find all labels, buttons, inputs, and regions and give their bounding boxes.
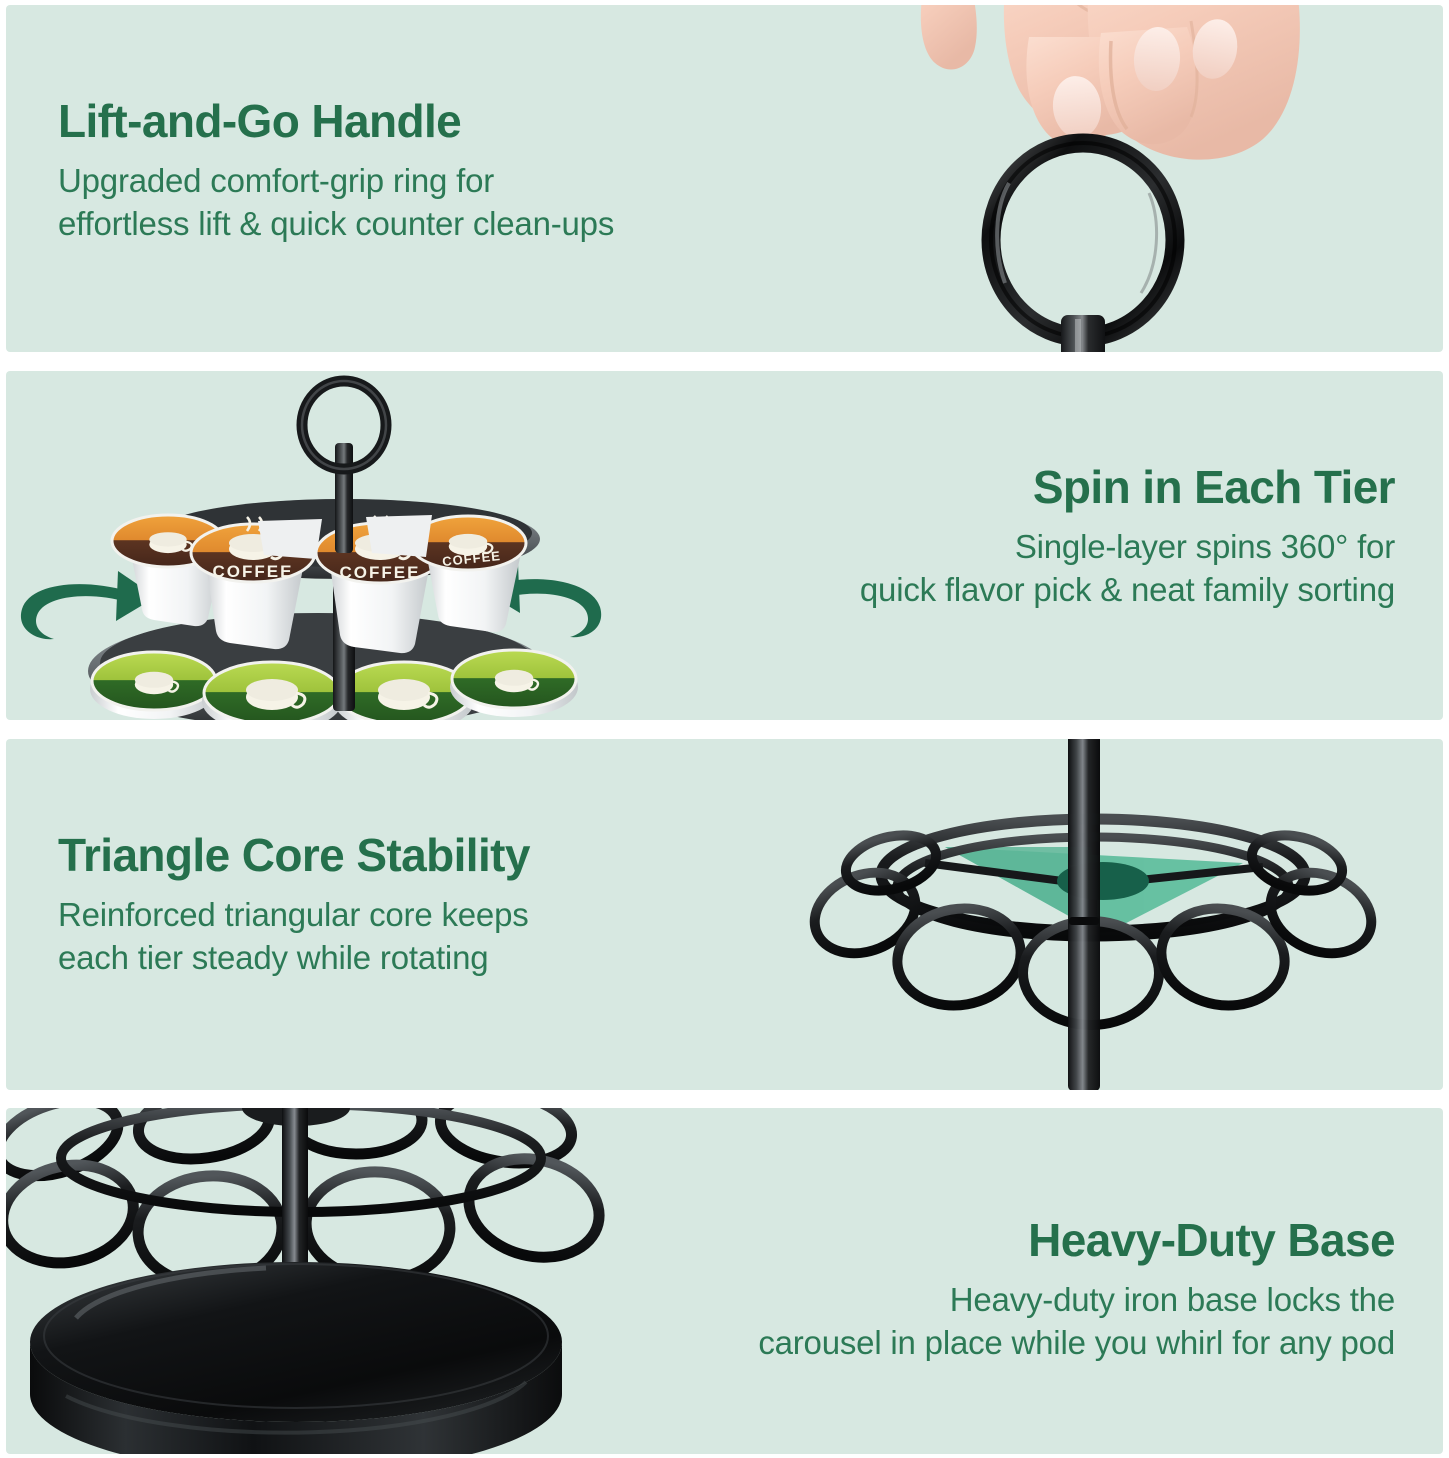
rotation-arrow-left-icon xyxy=(21,571,156,639)
panel-4-headline: Heavy-Duty Base xyxy=(758,1216,1395,1265)
center-post-graphic xyxy=(335,443,353,553)
panel-2-body-text: Single-layer spins 360° for quick flavor… xyxy=(860,526,1395,612)
green-pod xyxy=(90,652,218,719)
ring-handle-graphic xyxy=(991,143,1175,337)
carousel-tier-triangle-core-image xyxy=(773,739,1413,1090)
round-iron-base-disc xyxy=(30,1262,562,1454)
panel-3-body-text: Reinforced triangular core keeps each ti… xyxy=(58,894,530,980)
human-hand-graphic xyxy=(921,5,1300,160)
panel-1-body-text: Upgraded comfort-grip ring for effortles… xyxy=(58,160,614,246)
panel-2-headline: Spin in Each Tier xyxy=(860,463,1395,512)
feature-panel-spin-in-each-tier: Spin in Each Tier Single-layer spins 360… xyxy=(6,371,1443,720)
green-pod xyxy=(202,662,342,720)
panel-4-body-text: Heavy-duty iron base locks the carousel … xyxy=(758,1279,1395,1365)
heavy-duty-iron-base-image xyxy=(6,1108,656,1454)
center-post-graphic xyxy=(1061,315,1105,352)
page-title: Lift-and-Go Handle xyxy=(58,97,614,146)
panel-3-copy-block: Triangle Core Stability Reinforced trian… xyxy=(58,831,530,980)
panel-4-copy-block: Heavy-Duty Base Heavy-duty iron base loc… xyxy=(758,1216,1395,1365)
panel-1-copy-block: Lift-and-Go Handle Upgraded comfort-grip… xyxy=(58,97,614,246)
hand-gripping-ring-handle-image xyxy=(905,5,1325,352)
center-post-graphic xyxy=(1068,739,1100,1090)
two-tier-carousel-with-pods-image: COFFEE COFFEE xyxy=(6,371,626,720)
pod-label: COFFEE xyxy=(213,562,294,581)
pod-label: COFFEE xyxy=(340,563,421,582)
green-pod xyxy=(450,650,578,717)
panel-3-headline: Triangle Core Stability xyxy=(58,831,530,880)
feature-panel-heavy-duty-base: Heavy-Duty Base Heavy-duty iron base loc… xyxy=(6,1108,1443,1454)
feature-panel-triangle-core-stability: Triangle Core Stability Reinforced trian… xyxy=(6,739,1443,1090)
post-joint xyxy=(1069,917,1099,925)
infographic-sheet: Lift-and-Go Handle Upgraded comfort-grip… xyxy=(0,0,1449,1458)
panel-2-copy-block: Spin in Each Tier Single-layer spins 360… xyxy=(860,463,1395,612)
feature-panel-lift-and-go-handle: Lift-and-Go Handle Upgraded comfort-grip… xyxy=(6,5,1443,352)
